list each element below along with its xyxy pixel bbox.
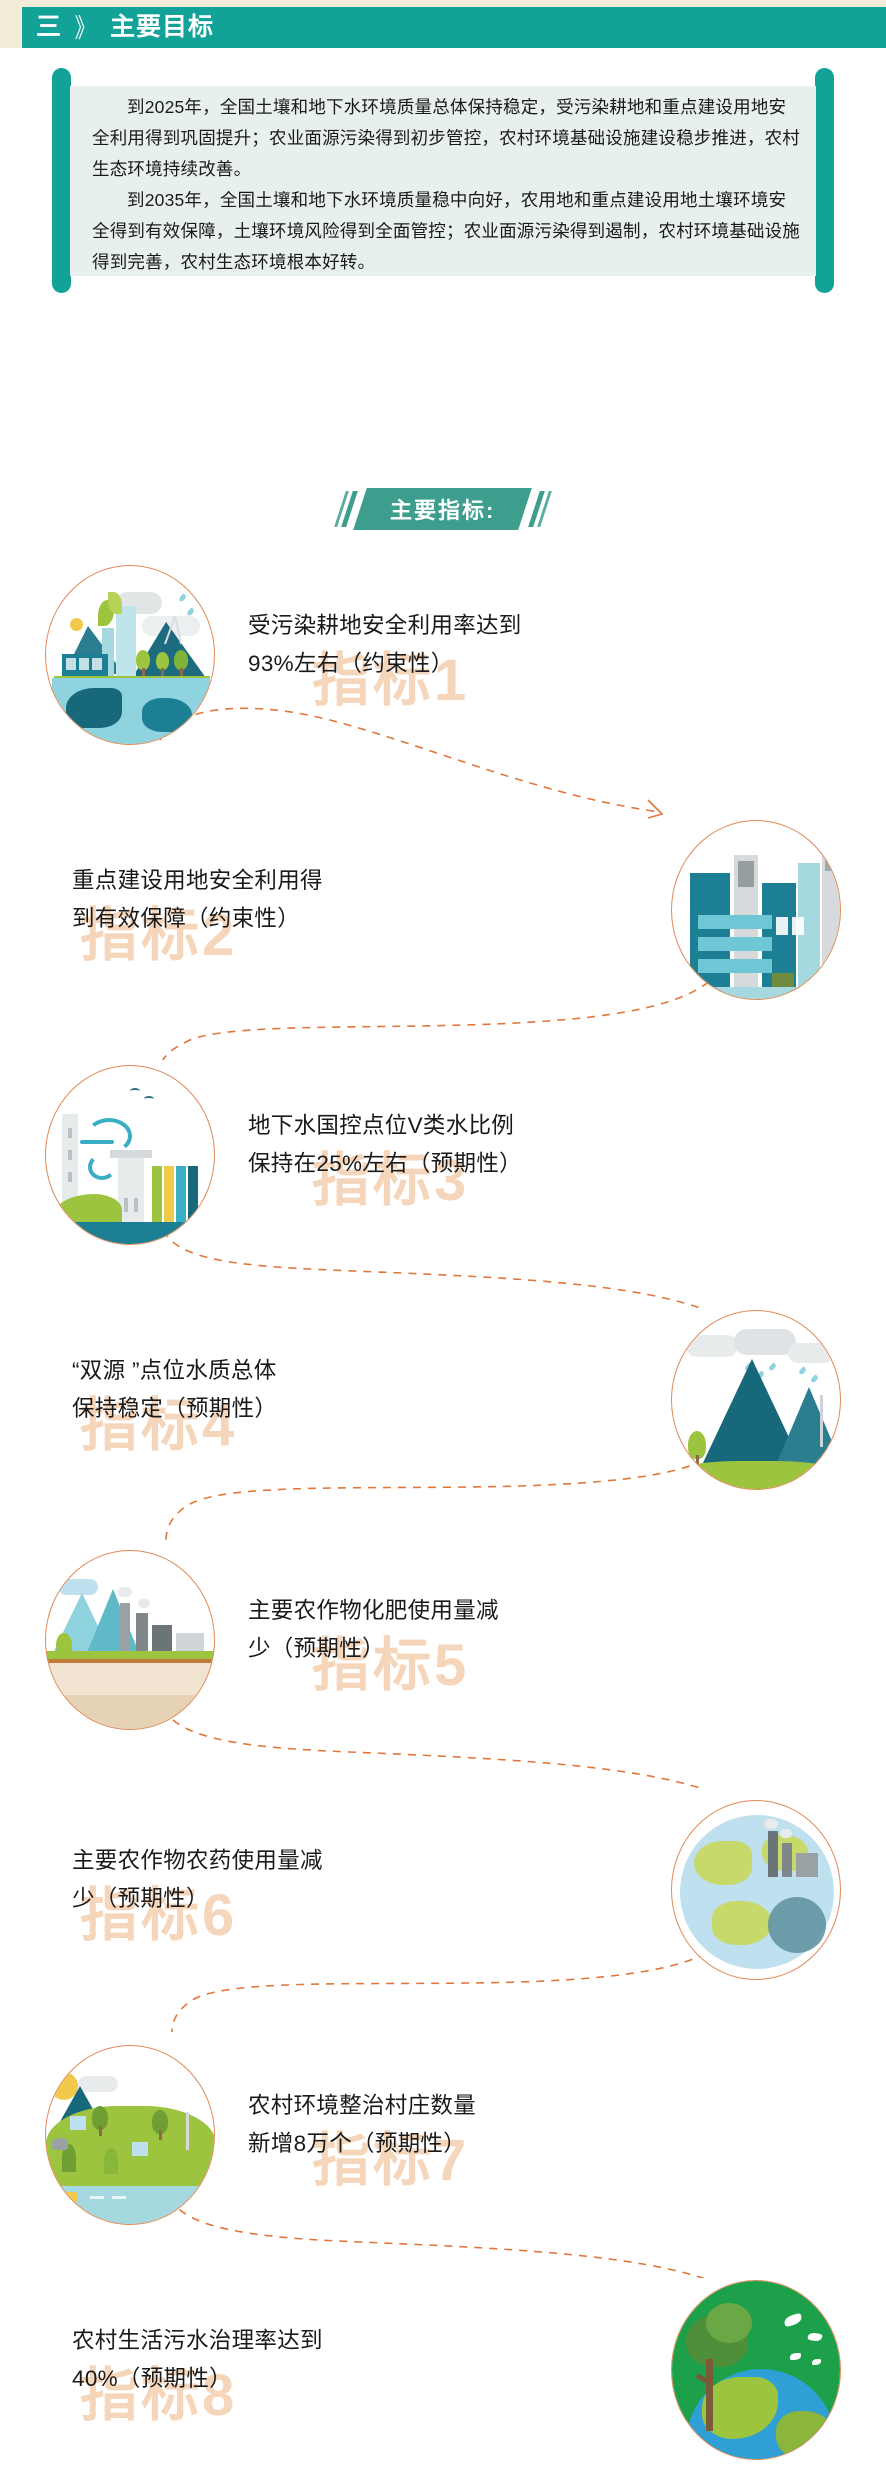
- metrics-banner-plate: 主要指标:: [354, 488, 533, 530]
- intro-paragraph-2: 到2035年，全国土壤和地下水环境质量稳中向好，农用地和重点建设用地土壤环境安全…: [92, 185, 800, 278]
- indicator-3-copy: 指标3 地下水国控点位V类水比例 保持在25%左右（预期性）: [248, 1107, 668, 1183]
- eco-industry-globe-illustration-icon: [45, 565, 215, 745]
- indicator-6-label: 主要农作物农药使用量减 少（预期性）: [72, 1842, 492, 1918]
- indicator-2-copy: 指标2 重点建设用地安全利用得 到有效保障（约束性）: [72, 862, 492, 938]
- section-number: 三: [36, 15, 62, 40]
- farmland-soil-illustration-icon: [45, 1550, 215, 1730]
- indicator-item-8: 指标8 农村生活污水治理率达到 40%（预期性）: [0, 2280, 886, 2470]
- indicator-4-copy: 指标4 “双源 ”点位水质总体 保持稳定（预期性）: [72, 1352, 492, 1428]
- indicator-1-label: 受污染耕地安全利用率达到 93%左右（约束性）: [248, 607, 668, 683]
- wind-groundwater-illustration-icon: [45, 1065, 215, 1245]
- indicator-5-label: 主要农作物化肥使用量减 少（预期性）: [248, 1592, 668, 1668]
- indicator-7-label: 农村环境整治村庄数量 新增8万个（预期性）: [248, 2087, 668, 2163]
- indicator-1-copy: 指标1 受污染耕地安全利用率达到 93%左右（约束性）: [248, 607, 668, 683]
- village-nature-illustration-icon: [45, 2045, 215, 2225]
- intro-paragraph-1: 到2025年，全国土壤和地下水环境质量总体保持稳定，受污染耕地和重点建设用地安全…: [92, 92, 800, 185]
- indicator-item-6: 指标6 主要农作物农药使用量减 少（预期性）: [0, 1800, 886, 1990]
- intro-accent-bar-left: [52, 68, 71, 293]
- indicator-item-2: 指标2 重点建设用地安全利用得 到有效保障（约束性）: [0, 820, 886, 1010]
- indicator-7-copy: 指标7 农村环境整治村庄数量 新增8万个（预期性）: [248, 2087, 668, 2163]
- indicator-item-5: 指标5 主要农作物化肥使用量减 少（预期性）: [0, 1550, 886, 1740]
- green-earth-birds-illustration-icon: [671, 2280, 841, 2460]
- earth-factory-illustration-icon: [671, 1800, 841, 1980]
- indicator-5-copy: 指标5 主要农作物化肥使用量减 少（预期性）: [248, 1592, 668, 1668]
- indicator-item-4: 指标4 “双源 ”点位水质总体 保持稳定（预期性）: [0, 1310, 886, 1500]
- indicator-8-label: 农村生活污水治理率达到 40%（预期性）: [72, 2322, 492, 2398]
- intro-text-block: 到2025年，全国土壤和地下水环境质量总体保持稳定，受污染耕地和重点建设用地安全…: [92, 92, 800, 278]
- metrics-banner-label: 主要指标:: [390, 493, 495, 525]
- indicator-item-3: 指标3 地下水国控点位V类水比例 保持在25%左右（预期性）: [0, 1065, 886, 1255]
- page-title: 主要目标: [110, 15, 214, 40]
- indicator-2-label: 重点建设用地安全利用得 到有效保障（约束性）: [72, 862, 492, 938]
- metrics-banner: 主要指标:: [0, 488, 886, 530]
- indicator-8-copy: 指标8 农村生活污水治理率达到 40%（预期性）: [72, 2322, 492, 2398]
- intro-card: 到2025年，全国土壤和地下水环境质量总体保持稳定，受污染耕地和重点建设用地安全…: [52, 68, 834, 293]
- indicator-4-label: “双源 ”点位水质总体 保持稳定（预期性）: [72, 1352, 492, 1428]
- mountain-rain-illustration-icon: [671, 1310, 841, 1490]
- section-header-banner: 三 》 主要目标: [22, 7, 886, 48]
- infographic-page: 三 》 主要目标 到2025年，全国土壤和地下水环境质量总体保持稳定，受污染耕地…: [0, 0, 886, 2477]
- city-buildings-illustration-icon: [671, 820, 841, 1000]
- indicator-item-7: 指标7 农村环境整治村庄数量 新增8万个（预期性）: [0, 2045, 886, 2235]
- indicator-6-copy: 指标6 主要农作物农药使用量减 少（预期性）: [72, 1842, 492, 1918]
- indicator-3-label: 地下水国控点位V类水比例 保持在25%左右（预期性）: [248, 1107, 668, 1183]
- intro-accent-bar-right: [815, 68, 834, 293]
- chevron-right-icon: 》: [75, 15, 96, 41]
- indicator-item-1: 指标1 受污染耕地安全利用率达到 93%左右（约束性）: [0, 565, 886, 755]
